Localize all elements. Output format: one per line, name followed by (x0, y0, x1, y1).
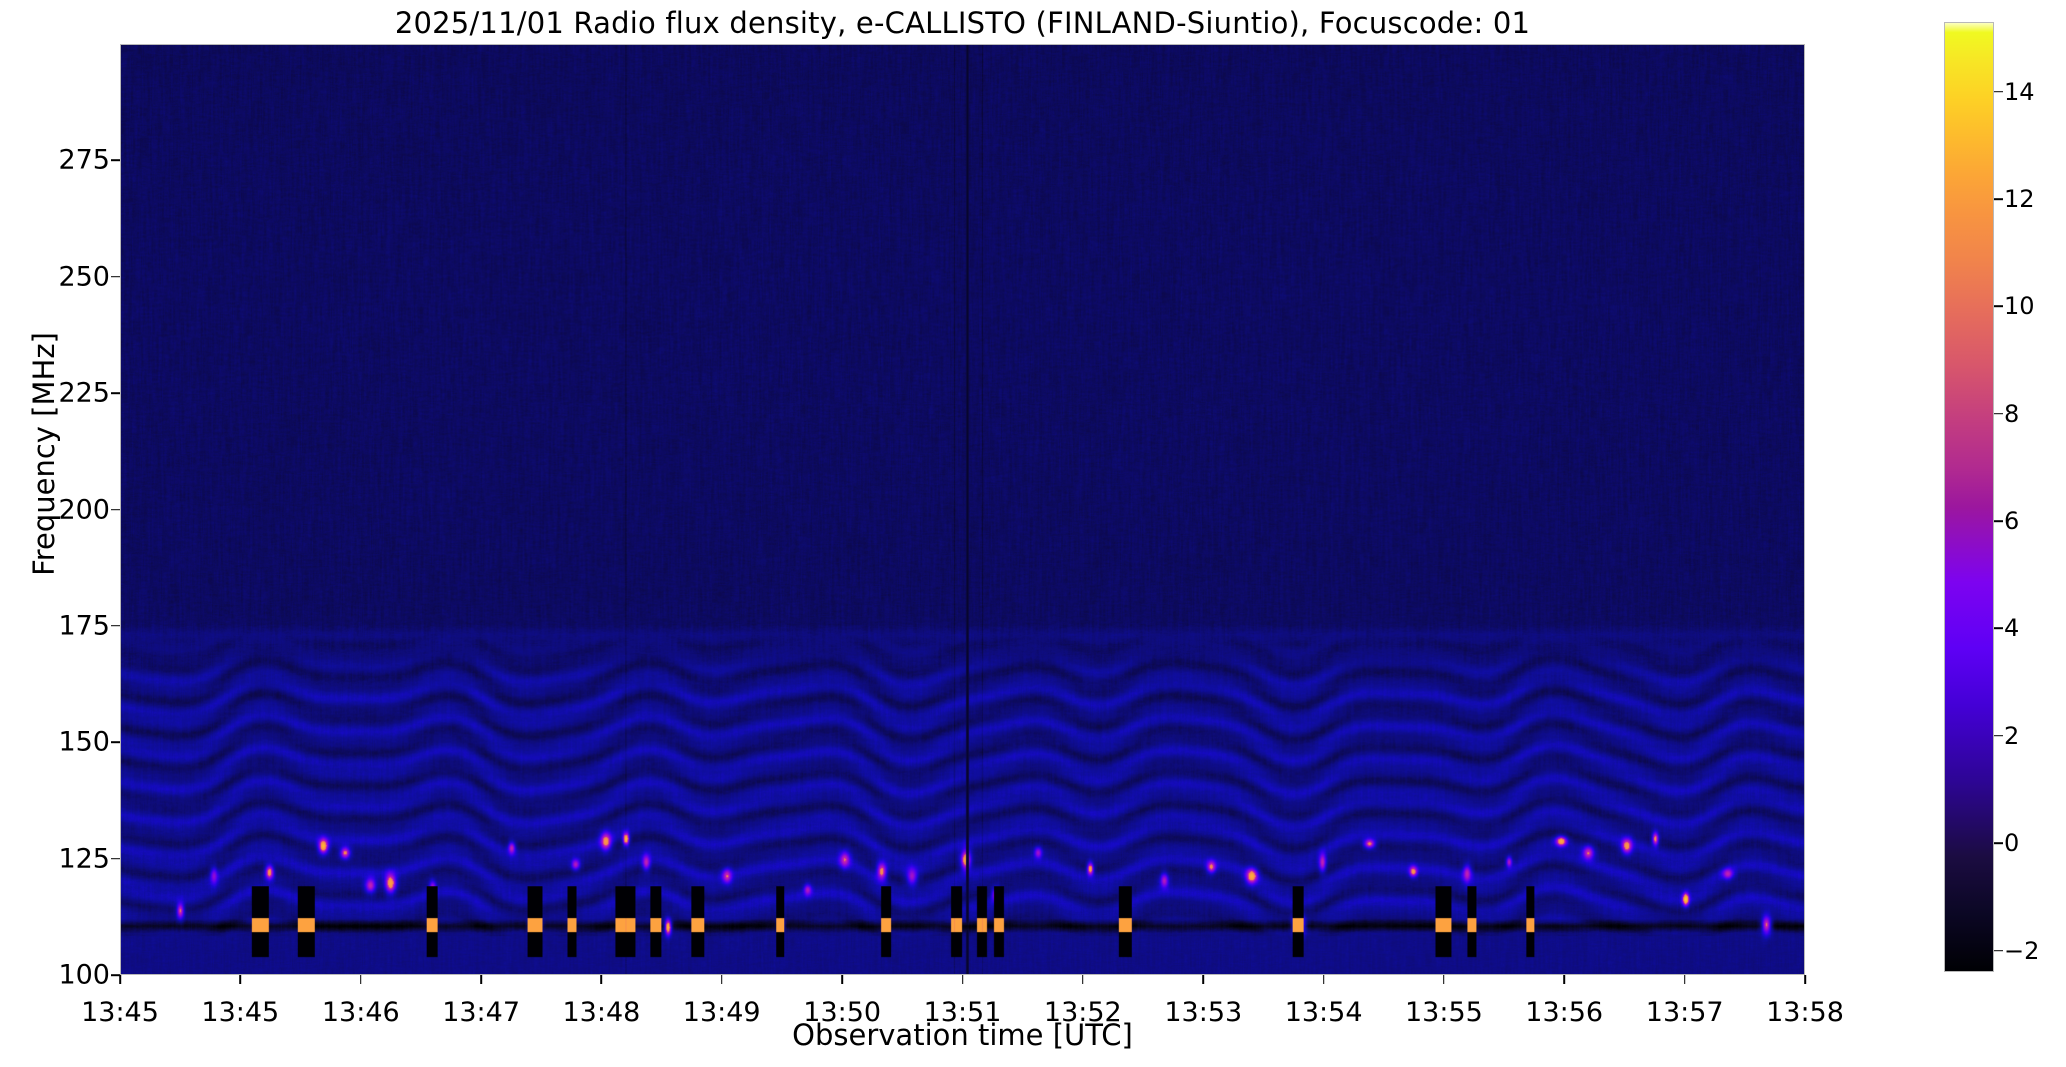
colorbar-tick-label: −2 (2004, 937, 2039, 965)
x-tick-mark (601, 975, 603, 984)
x-tick-mark (721, 975, 723, 984)
x-tick-mark (1804, 975, 1806, 984)
spectrogram-plot-area[interactable] (120, 44, 1805, 975)
x-tick-mark (1443, 975, 1445, 984)
x-tick-mark (1082, 975, 1084, 984)
colorbar-tick-label: 14 (2004, 78, 2035, 106)
x-tick-mark (1684, 975, 1686, 984)
x-tick-mark (480, 975, 482, 984)
colorbar-tick-label: 6 (2004, 507, 2019, 535)
colorbar-tick-mark (1994, 950, 2003, 952)
y-tick-label: 225 (58, 378, 110, 409)
colorbar-tick-mark (1994, 628, 2003, 630)
x-tick-mark (119, 975, 121, 984)
colorbar-tick-label: 0 (2004, 829, 2019, 857)
colorbar-tick-mark (1994, 91, 2003, 93)
chart-title: 2025/11/01 Radio flux density, e-CALLIST… (120, 6, 1805, 40)
colorbar-tick-mark (1994, 413, 2003, 415)
y-tick-label: 275 (58, 145, 110, 176)
colorbar-gradient (1944, 22, 1994, 972)
colorbar-tick-label: 4 (2004, 614, 2019, 642)
colorbar[interactable]: 14121086420−2 (1944, 22, 1994, 972)
y-tick-mark (111, 741, 120, 743)
colorbar-tick-label: 8 (2004, 400, 2019, 428)
x-tick-mark (1323, 975, 1325, 984)
y-tick-label: 125 (58, 843, 110, 874)
x-tick-mark (240, 975, 242, 984)
spectrogram-canvas (121, 45, 1804, 974)
x-tick-mark (360, 975, 362, 984)
y-tick-label: 200 (58, 494, 110, 525)
x-tick-mark (841, 975, 843, 984)
colorbar-tick-mark (1994, 735, 2003, 737)
x-tick-mark (1202, 975, 1204, 984)
colorbar-tick-mark (1994, 306, 2003, 308)
y-tick-mark (111, 858, 120, 860)
y-tick-mark (111, 392, 120, 394)
y-tick-label: 250 (58, 261, 110, 292)
colorbar-tick-label: 2 (2004, 722, 2019, 750)
colorbar-tick-mark (1994, 842, 2003, 844)
y-tick-label: 150 (58, 727, 110, 758)
spectrogram-image (121, 45, 1804, 974)
y-tick-mark (111, 509, 120, 511)
colorbar-tick-mark (1994, 520, 2003, 522)
y-tick-mark (111, 625, 120, 627)
y-axis-label: Frequency [MHz] (27, 194, 61, 714)
x-tick-mark (962, 975, 964, 984)
y-tick-label: 175 (58, 610, 110, 641)
y-tick-mark (111, 276, 120, 278)
colorbar-tick-label: 12 (2004, 185, 2035, 213)
colorbar-tick-label: 10 (2004, 292, 2035, 320)
x-tick-mark (1563, 975, 1565, 984)
y-axis: Frequency [MHz] 275250225200175150125100 (0, 44, 120, 975)
colorbar-tick-mark (1994, 198, 2003, 200)
x-axis-label: Observation time [UTC] (120, 1018, 1805, 1052)
y-tick-label: 100 (58, 960, 110, 991)
y-tick-mark (111, 160, 120, 162)
